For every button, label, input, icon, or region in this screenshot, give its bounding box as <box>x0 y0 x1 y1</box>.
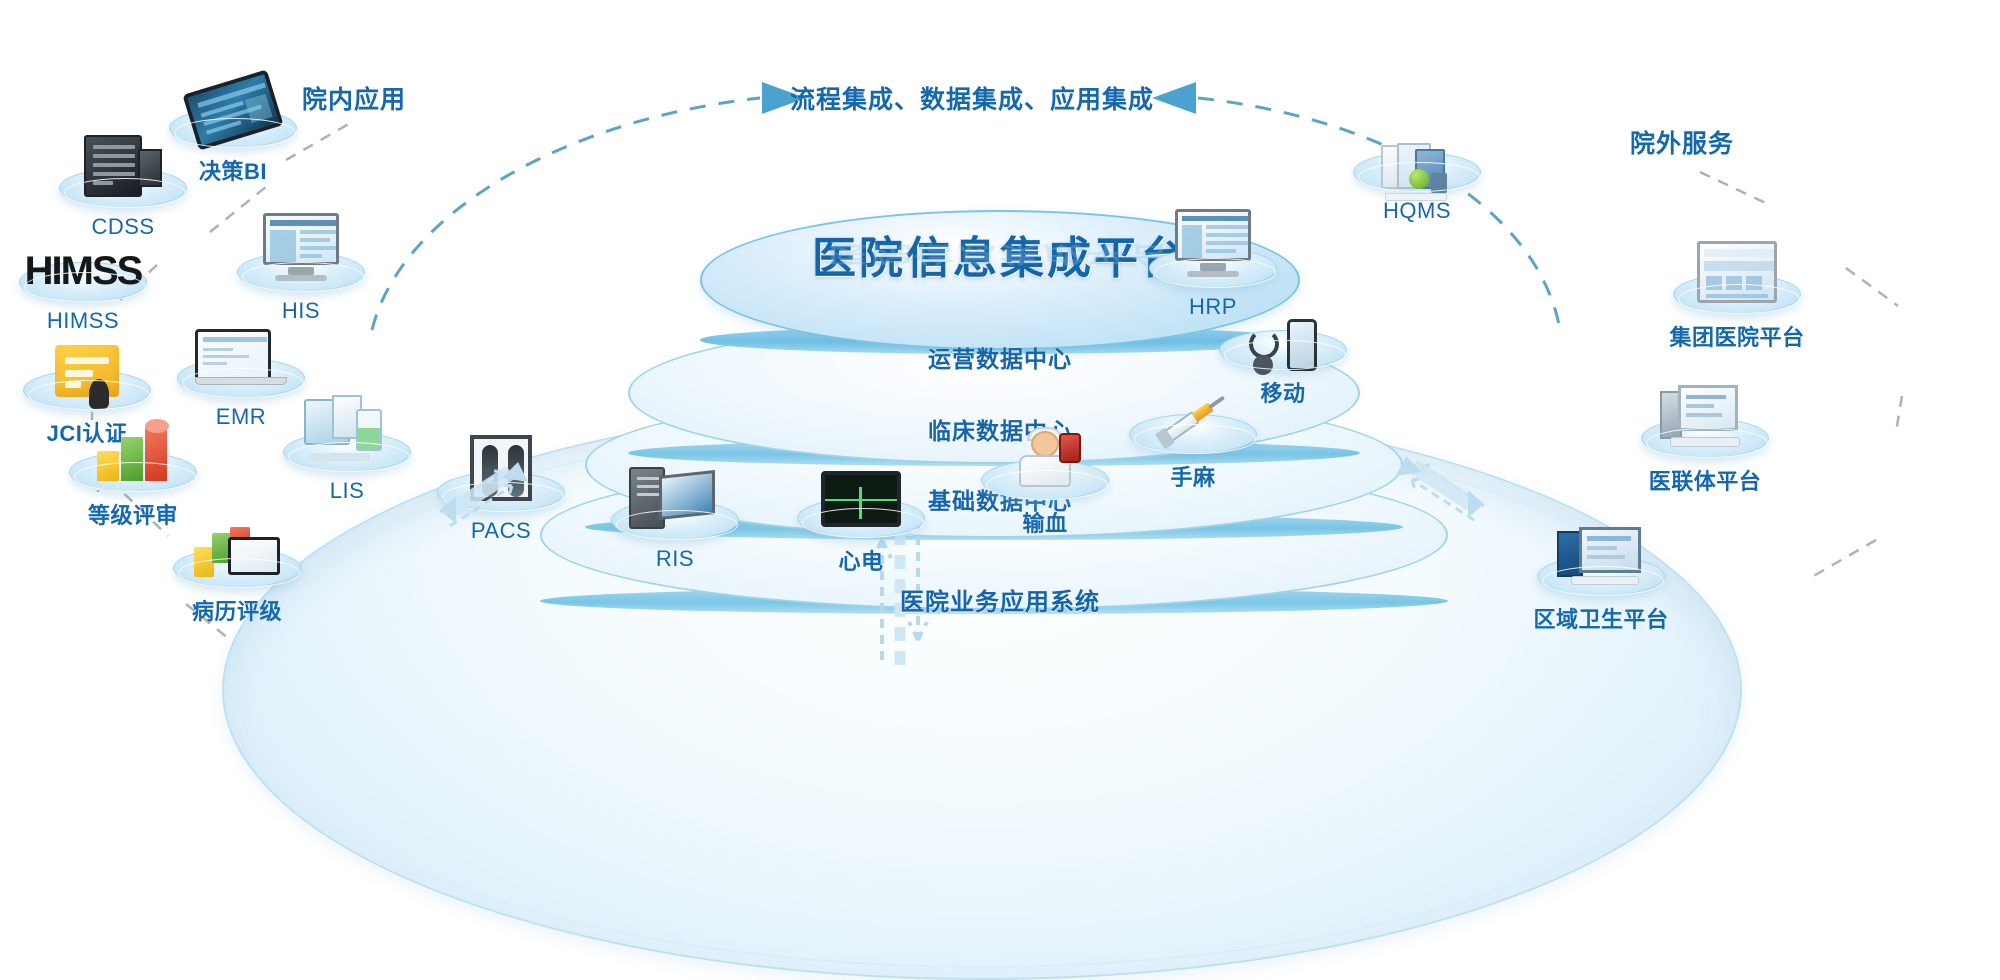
node-label: 集团医院平台 <box>1652 320 1822 352</box>
himss-logo-icon: HIMSS <box>25 251 142 291</box>
exchange-arrows-right <box>1372 446 1492 536</box>
node-pedestal <box>23 370 151 410</box>
node-pedestal <box>173 548 301 588</box>
blood-bag-icon <box>1013 431 1077 489</box>
node-pedestal <box>283 432 411 472</box>
pc-tower-icon <box>629 465 721 529</box>
node-lis[interactable]: LIS <box>262 432 432 504</box>
stethoscope-tube <box>1249 329 1279 359</box>
monitor-screen <box>659 470 715 520</box>
ecg-peak <box>859 487 862 519</box>
stethoscope-phone-icon <box>1247 319 1319 377</box>
node-label: HIS <box>216 298 386 324</box>
node-anesthesia[interactable]: 手麻 <box>1108 414 1278 492</box>
node-label: HRP <box>1128 294 1298 320</box>
mobile-phone <box>1287 319 1317 371</box>
node-himss[interactable]: HIMSS HIMSS <box>0 262 168 334</box>
node-pedestal <box>797 498 925 538</box>
node-ris[interactable]: RIS <box>590 500 760 572</box>
node-label: 心电 <box>776 544 946 576</box>
bar-chart-icon <box>97 425 169 481</box>
node-pedestal <box>1673 274 1801 314</box>
monitor-base <box>1187 271 1239 277</box>
node-hqms[interactable]: HQMS <box>1332 152 1502 224</box>
node-pedestal <box>1149 248 1277 288</box>
monitor-stand <box>1200 263 1226 271</box>
laptop-icon <box>195 329 287 385</box>
heading-out-of-hospital-services: 院外服务 <box>1630 124 1734 160</box>
node-pedestal <box>169 108 297 148</box>
monitor-stand <box>288 267 314 275</box>
node-label: 病历评级 <box>152 594 322 626</box>
node-emr[interactable]: EMR <box>156 358 326 430</box>
monitor-base <box>275 275 327 281</box>
node-grade-review[interactable]: 等级评审 <box>48 452 218 530</box>
node-transfusion[interactable]: 输血 <box>960 460 1130 538</box>
node-medical-alliance-platform[interactable]: 医联体平台 <box>1620 418 1790 496</box>
blue-monitor-icon <box>1557 527 1645 585</box>
integration-arc-label: 流程集成、数据集成、应用集成 <box>772 80 1172 116</box>
node-pedestal <box>1641 418 1769 458</box>
node-label: HQMS <box>1332 198 1502 224</box>
certificate-icon <box>55 345 119 397</box>
node-label: CDSS <box>38 214 208 240</box>
node-label: 等级评审 <box>48 498 218 530</box>
node-label: RIS <box>590 546 760 572</box>
server-side-panel <box>138 149 162 187</box>
node-mobile[interactable]: 移动 <box>1198 330 1368 408</box>
node-pedestal <box>1129 414 1257 454</box>
node-ecg[interactable]: 心电 <box>776 498 946 576</box>
exchange-arrows-left <box>432 452 552 542</box>
node-pedestal <box>59 168 187 208</box>
node-regional-health-platform[interactable]: 区域卫生平台 <box>1516 556 1686 634</box>
node-label: 移动 <box>1198 376 1368 408</box>
ecg-monitor-icon <box>821 471 901 527</box>
node-medical-record-rating[interactable]: 病历评级 <box>152 548 322 626</box>
certificate-seal <box>89 379 109 409</box>
desktop-monitor-icon <box>263 213 339 281</box>
documents-icon <box>1381 143 1453 201</box>
node-label: EMR <box>156 404 326 430</box>
node-pedestal <box>981 460 1109 500</box>
crt-monitor-icon <box>1697 241 1777 303</box>
node-pedestal: HIMSS <box>19 262 147 302</box>
node-pedestal <box>177 358 305 398</box>
node-label: LIS <box>262 478 432 504</box>
node-label: 手麻 <box>1108 460 1278 492</box>
desktop-monitor-icon <box>1175 209 1251 277</box>
head <box>1031 431 1059 457</box>
node-pedestal <box>1353 152 1481 192</box>
node-cdss[interactable]: CDSS <box>38 168 208 240</box>
node-label: 区域卫生平台 <box>1516 602 1686 634</box>
node-label: 输血 <box>960 506 1130 538</box>
lab-analyzer-icon <box>304 399 390 461</box>
node-pedestal <box>611 500 739 540</box>
diagram-canvas: 医院信息集成平台 医院信息集成平台 运营数据中心 临床数据中心 基础数据中心 医… <box>0 0 2000 955</box>
node-label: 医联体平台 <box>1620 464 1790 496</box>
node-pedestal <box>1537 556 1665 596</box>
blood-bag <box>1059 433 1081 463</box>
node-pedestal <box>69 452 197 492</box>
node-group-hospital-platform[interactable]: 集团医院平台 <box>1652 274 1822 352</box>
node-pedestal <box>1219 330 1347 370</box>
stethoscope-bell <box>1253 355 1273 375</box>
laptop-keyboard <box>195 377 287 385</box>
tablet-icon <box>189 81 277 139</box>
node-label: HIMSS <box>0 308 168 334</box>
laptop-chart-icon <box>194 519 280 577</box>
server-icon <box>84 135 142 197</box>
business-application-layer-label: 医院业务应用系统 <box>700 582 1300 617</box>
node-hrp[interactable]: HRP <box>1128 248 1298 320</box>
node-pedestal <box>237 252 365 292</box>
node-his[interactable]: HIS <box>216 252 386 324</box>
desktop-report-icon <box>1660 385 1750 447</box>
